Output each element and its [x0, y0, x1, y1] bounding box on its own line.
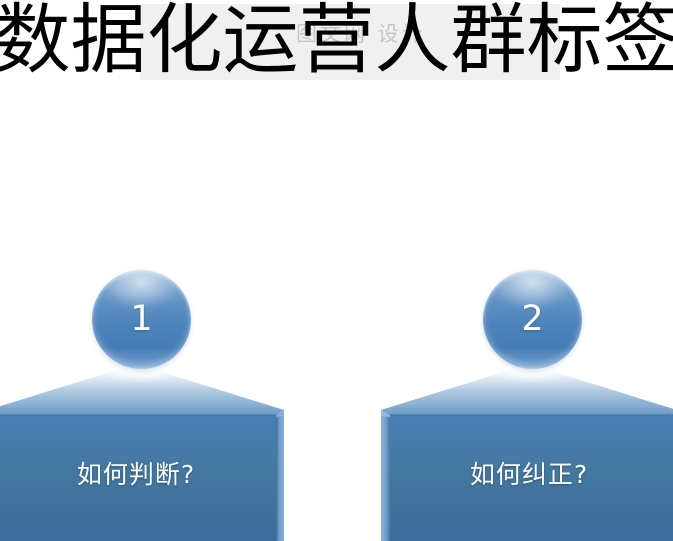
step-label-1: 如何判断?	[0, 460, 284, 490]
page-title: 数据化运营人群标签	[0, 0, 673, 84]
step-number-badge-2[interactable]: 2	[483, 270, 582, 369]
step-card-1[interactable]: 1 如何判断?	[0, 270, 284, 541]
step-number-badge-1[interactable]: 1	[92, 270, 191, 369]
slide-canvas: 图文网 设计 数据化运营人群标签	[0, 0, 673, 541]
pentagon-shape-1	[0, 370, 284, 541]
step-number-1: 1	[130, 302, 152, 337]
step-label-2: 如何纠正?	[381, 460, 673, 490]
step-number-2: 2	[521, 302, 543, 337]
step-card-2[interactable]: 2 如何纠正?	[381, 270, 673, 541]
pentagon-shape-2	[381, 370, 673, 541]
